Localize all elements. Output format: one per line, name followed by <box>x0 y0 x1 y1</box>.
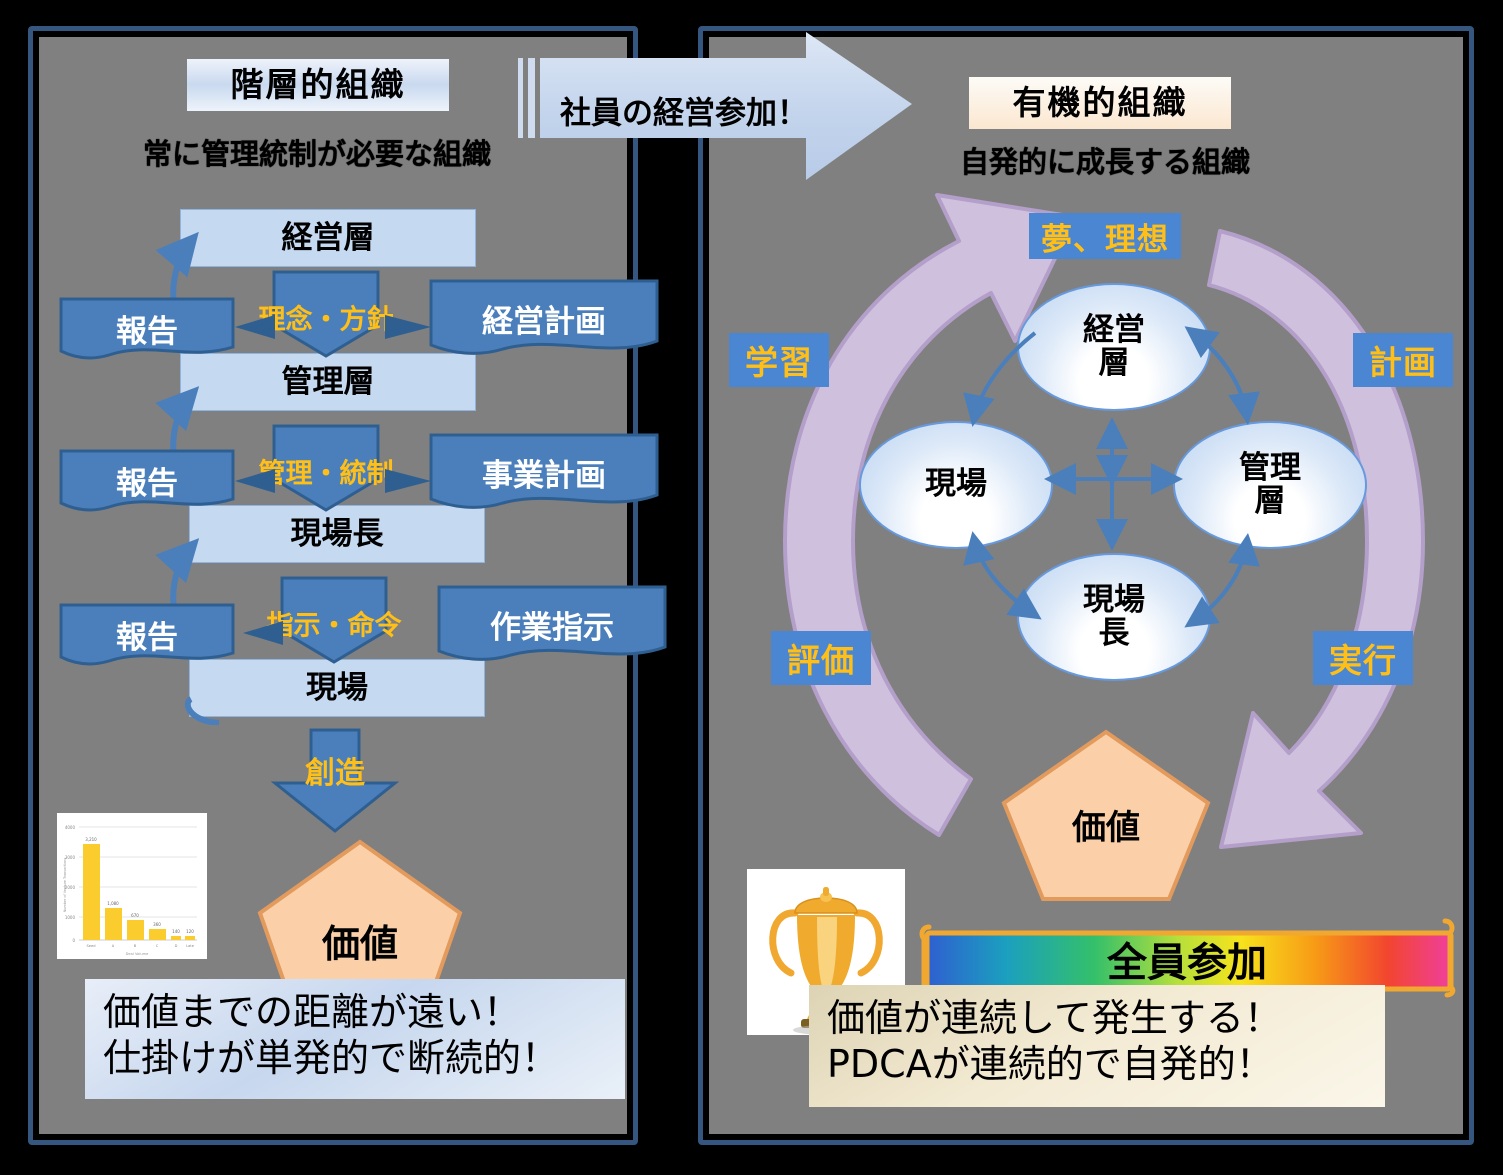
svg-text:Seed: Seed <box>87 944 96 948</box>
create-arrow: 創造 <box>271 727 399 835</box>
stage-label-do: 実行 <box>1313 631 1413 685</box>
left-panel-face: 階層的組織 常に管理統制が必要な組織 経営層 管理層 現場長 現場 <box>39 37 627 1134</box>
right-panel-face: 有機的組織 自発的に成長する組織 夢、理想 経営 層 管理 層 <box>709 37 1463 1134</box>
create-arrow-label: 創造 <box>271 727 399 835</box>
transition-arrow: 社員の経営参加！ <box>514 30 954 190</box>
report-ribbon-3-label: 報告 <box>59 603 235 673</box>
diagram-canvas: 階層的組織 常に管理統制が必要な組織 経営層 管理層 現場長 現場 <box>0 0 1503 1175</box>
stage-label-plan: 計画 <box>1353 333 1453 387</box>
svg-text:140: 140 <box>172 929 180 934</box>
right-subtitle: 自発的に成長する組織 <box>937 145 1273 181</box>
node-connector-arrows <box>839 277 1389 697</box>
venture-deal-volume-chart: 4000 3000 2000 1000 0 Number of Venture … <box>57 813 207 959</box>
report-ribbon-3: 報告 <box>59 603 235 673</box>
svg-text:1,080: 1,080 <box>107 901 119 906</box>
right-panel-border: 有機的組織 自発的に成長する組織 夢、理想 経営 層 管理 層 <box>698 26 1474 1145</box>
svg-text:Late: Late <box>186 944 195 948</box>
side-connector-arrows <box>235 293 485 693</box>
left-conclusion-line-1: 価値までの距離が遠い！ <box>103 989 607 1035</box>
svg-text:120: 120 <box>186 929 194 934</box>
svg-text:D: D <box>175 944 178 948</box>
left-panel-border: 階層的組織 常に管理統制が必要な組織 経営層 管理層 現場長 現場 <box>28 26 638 1145</box>
svg-text:670: 670 <box>131 913 139 918</box>
transition-arrow-label: 社員の経営参加！ <box>560 88 808 133</box>
right-conclusion-line-2: PDCAが連続的で自発的！ <box>827 1041 1367 1087</box>
left-conclusion-line-2: 仕掛けが単発的で断続的！ <box>103 1035 607 1081</box>
right-conclusion-box: 価値が連続して発生する！ PDCAが連続的で自発的！ <box>809 985 1385 1107</box>
svg-text:4000: 4000 <box>65 825 76 830</box>
right-title-banner: 有機的組織 <box>969 77 1231 129</box>
value-pentagon-right: 価値 <box>999 727 1213 905</box>
svg-text:Number of Venture Transactions: Number of Venture Transactions <box>63 858 67 913</box>
left-conclusion-box: 価値までの距離が遠い！ 仕掛けが単発的で断続的！ <box>85 979 625 1099</box>
svg-text:360: 360 <box>153 922 161 927</box>
svg-text:3,210: 3,210 <box>85 837 97 842</box>
stage-label-act: 学習 <box>729 333 829 387</box>
stage-label-check: 評価 <box>771 631 871 685</box>
left-subtitle: 常に管理統制が必要な組織 <box>97 137 537 173</box>
value-pentagon-right-label: 価値 <box>999 727 1213 905</box>
svg-text:1000: 1000 <box>65 915 76 920</box>
svg-text:Deal Volume: Deal Volume <box>126 952 149 956</box>
left-title-banner: 階層的組織 <box>187 59 449 111</box>
dream-ideal-label: 夢、理想 <box>1029 213 1181 259</box>
right-conclusion-line-1: 価値が連続して発生する！ <box>827 995 1367 1041</box>
